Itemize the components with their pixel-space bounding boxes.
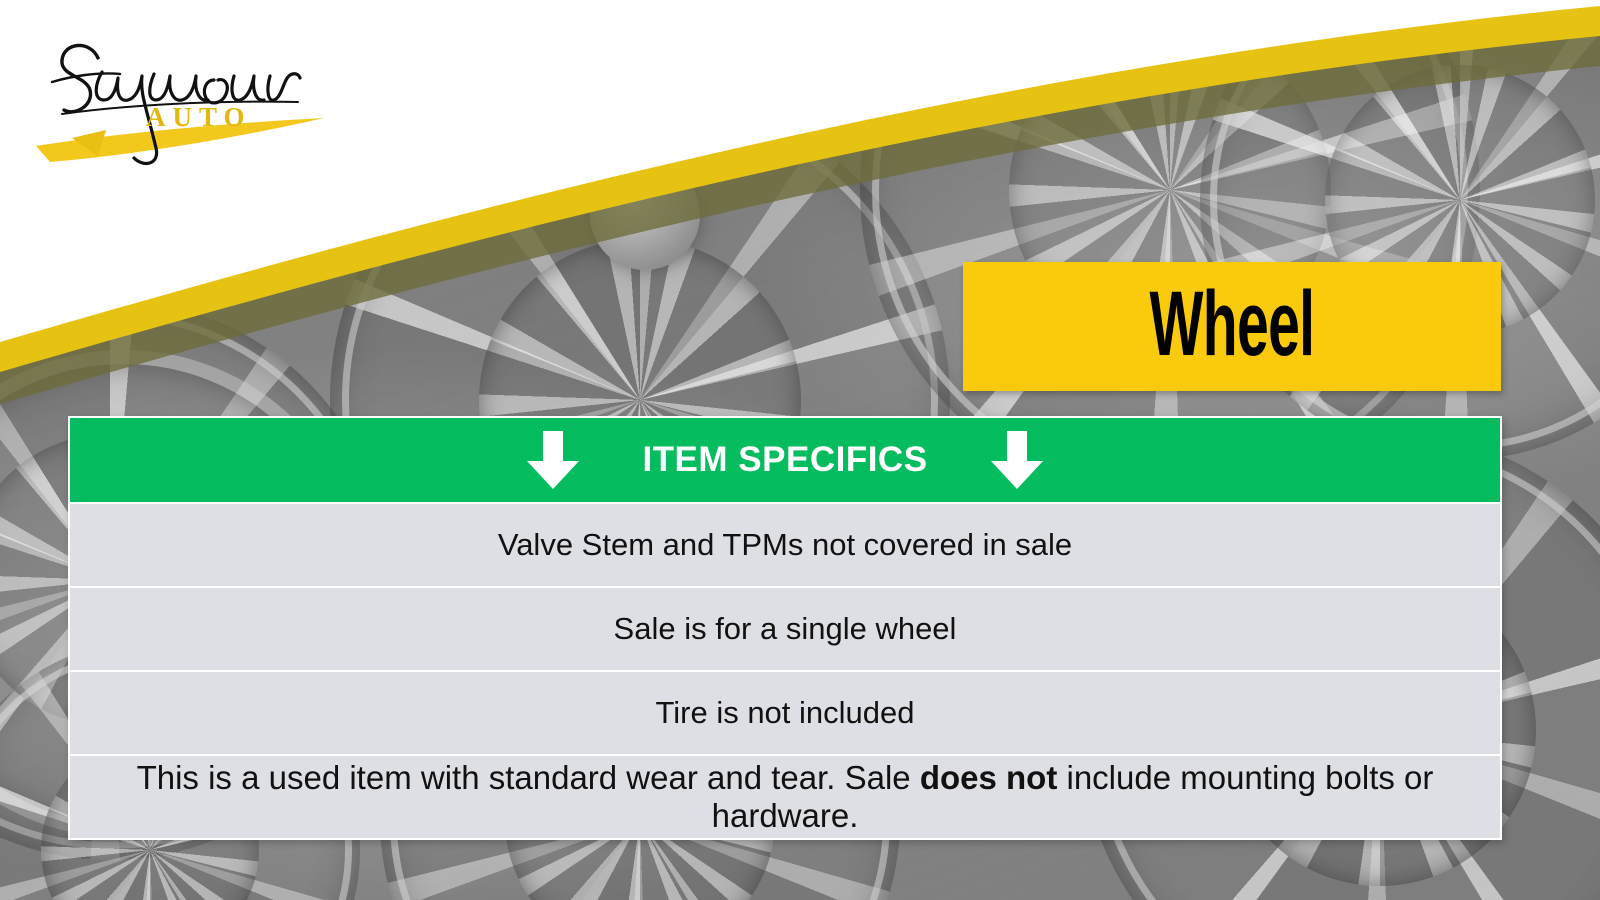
spec-text: Valve Stem and TPMs not covered in sale: [498, 527, 1072, 563]
item-specifics-title: ITEM SPECIFICS: [642, 440, 927, 480]
title-banner: Wheel: [963, 262, 1501, 391]
spec-text: Tire is not included: [655, 695, 914, 731]
item-specifics-table: ITEM SPECIFICS Valve Stem and TPMs not c…: [68, 416, 1502, 840]
disclaimer-emphasis: does not: [920, 759, 1058, 796]
table-row: Tire is not included: [70, 672, 1500, 754]
item-specifics-header: ITEM SPECIFICS: [70, 418, 1500, 502]
table-row: This is a used item with standard wear a…: [70, 756, 1500, 838]
brand-logo: AUTO: [28, 18, 348, 168]
page-title: Wheel: [1150, 278, 1315, 376]
svg-text:AUTO: AUTO: [146, 102, 252, 132]
spec-text: Sale is for a single wheel: [614, 611, 957, 647]
disclaimer-prefix: This is a used item with standard wear a…: [137, 759, 920, 796]
arrow-down-icon: [984, 427, 1050, 493]
spec-text-disclaimer: This is a used item with standard wear a…: [84, 759, 1486, 835]
table-row: Sale is for a single wheel: [70, 588, 1500, 670]
arrow-down-icon: [520, 427, 586, 493]
table-row: Valve Stem and TPMs not covered in sale: [70, 504, 1500, 586]
slide-canvas: AUTO Wheel ITEM SPECIFICS Valve Stem and…: [0, 0, 1600, 900]
